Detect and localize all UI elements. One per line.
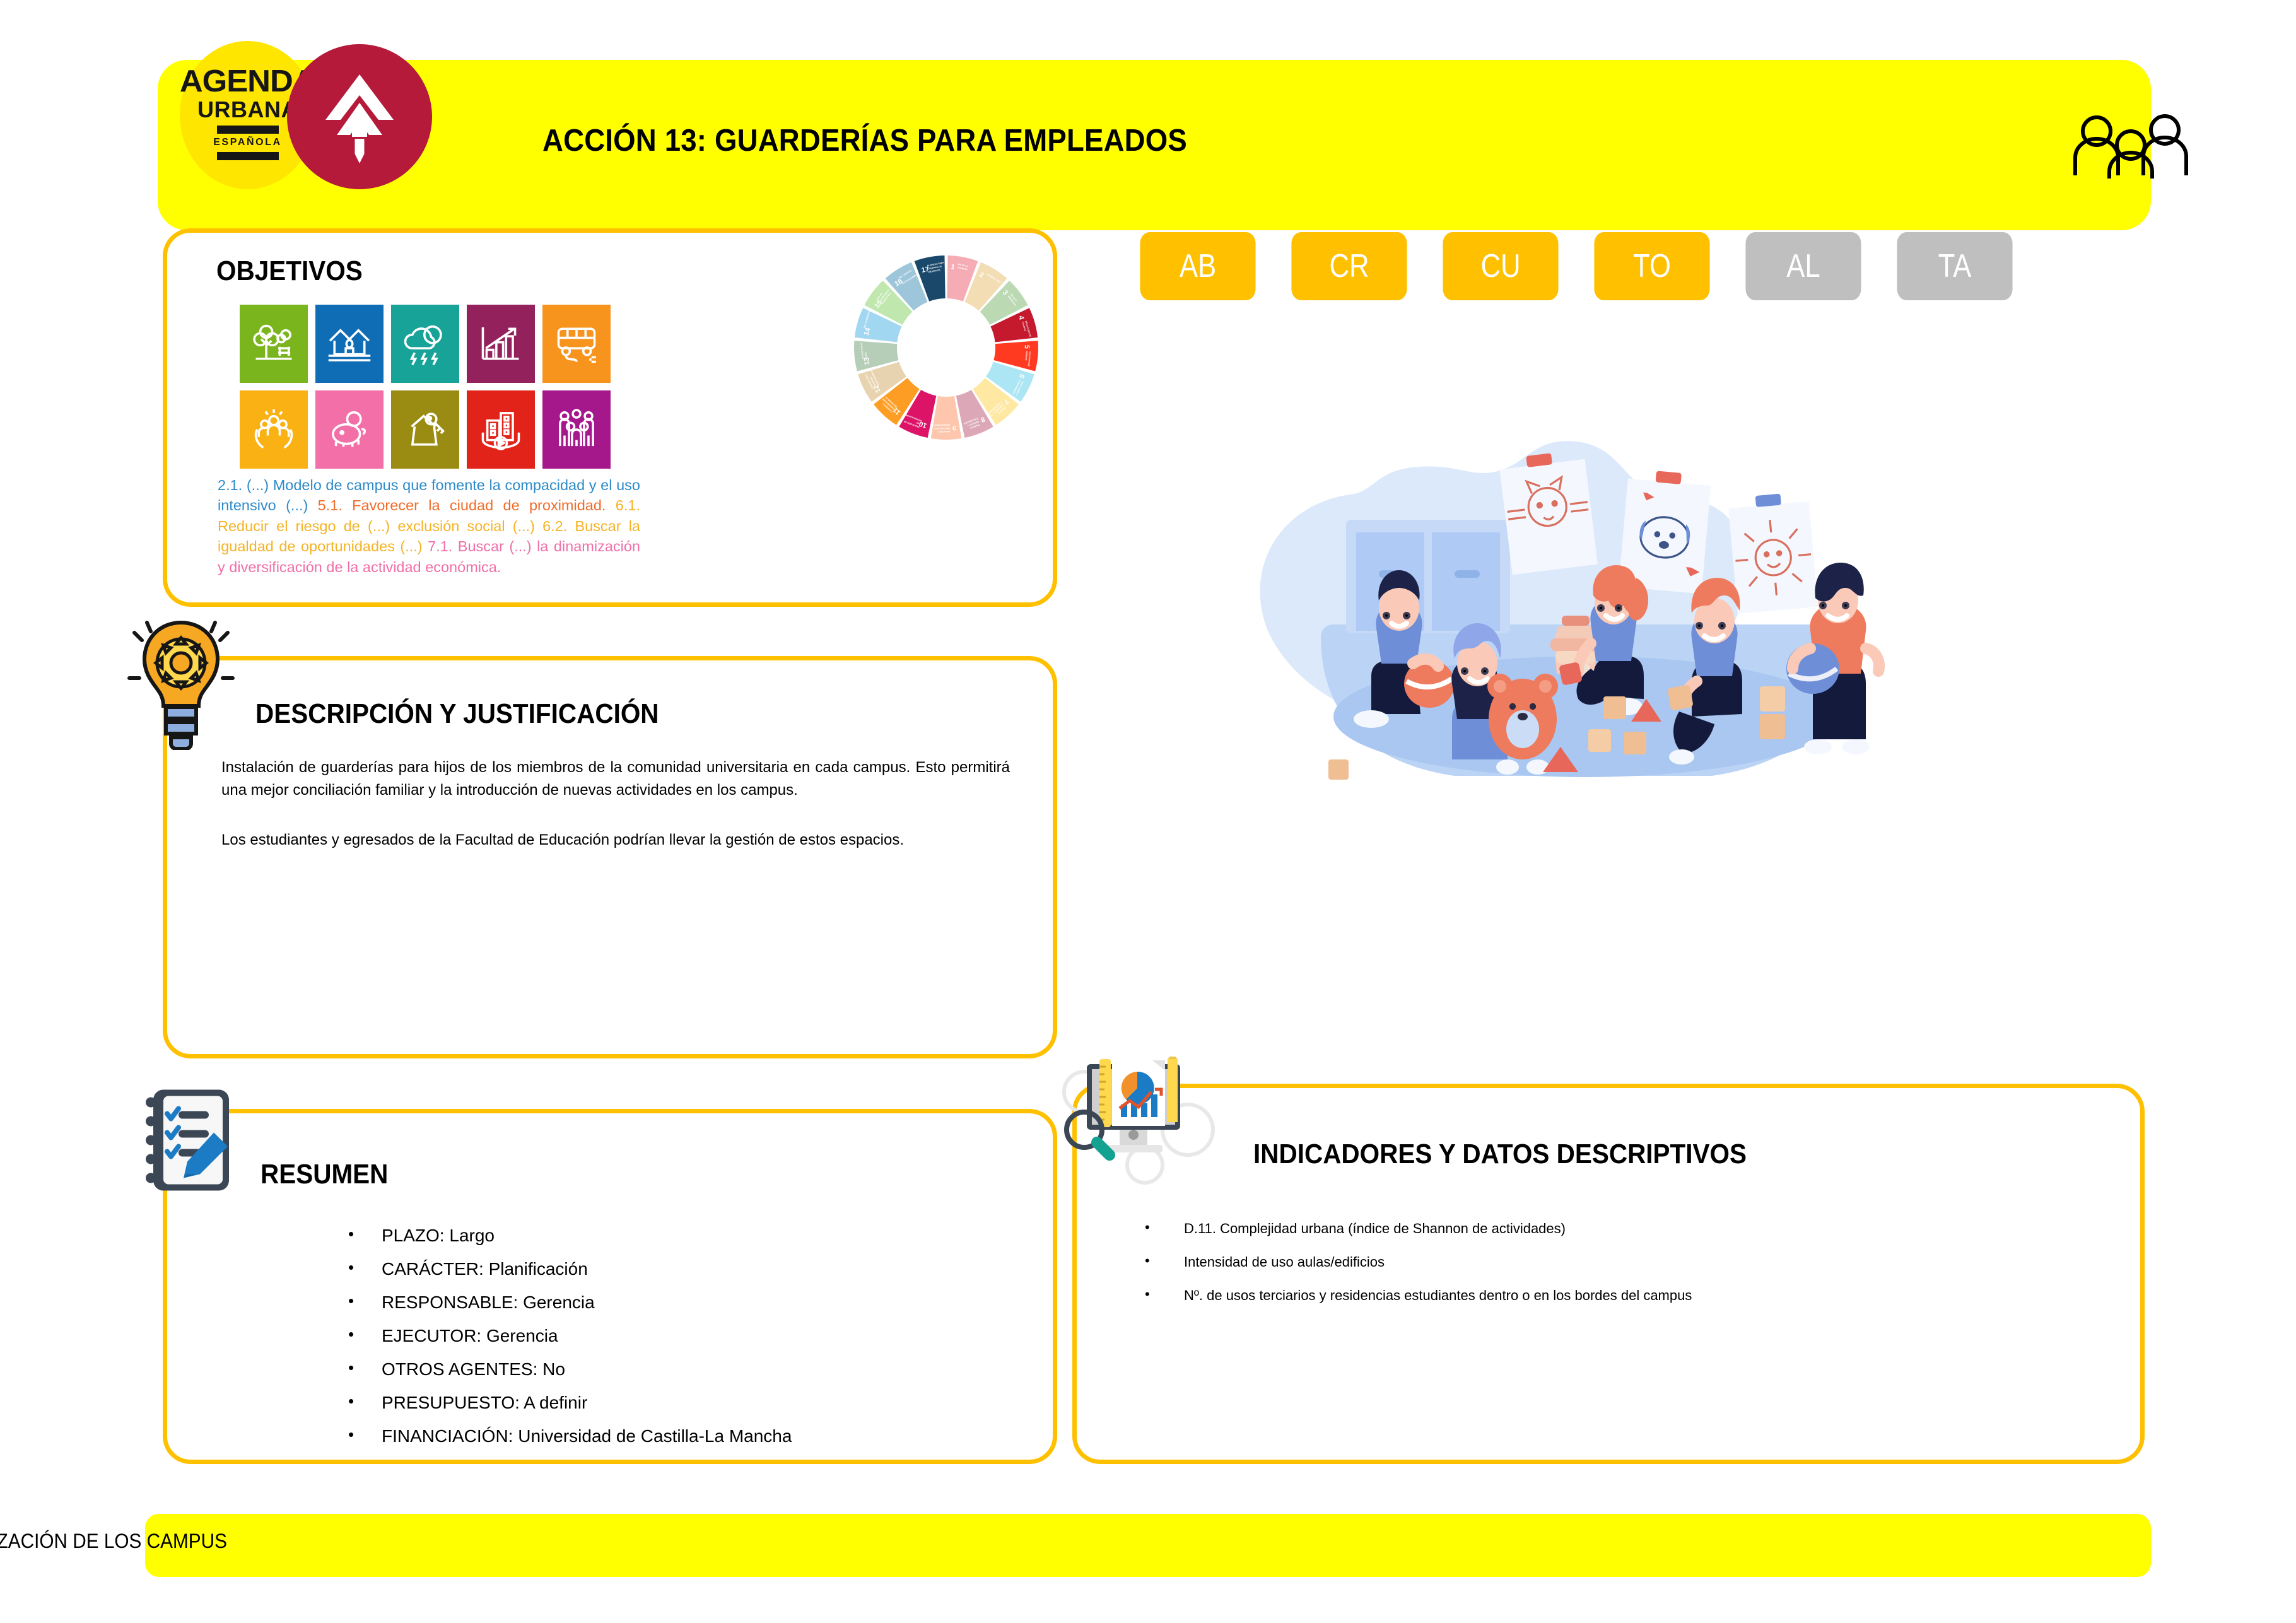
analytics-monitor-icon bbox=[1062, 1057, 1219, 1192]
svg-text:INDUSTRIA,: INDUSTRIA, bbox=[938, 430, 950, 433]
footer-eje-label: EJE 3: REVITALIZACIÓN DE LOS CAMPUS bbox=[0, 1530, 227, 1553]
hands-people-icon bbox=[240, 390, 308, 469]
people-group-icon bbox=[2069, 112, 2195, 182]
list-item: OTROS AGENTES: No bbox=[382, 1361, 792, 1378]
sdg-wheel: 1FIN DE LAPOBREZA2HAMBRE CERO3SALUD YBIE… bbox=[852, 253, 1041, 445]
objetivos-text: 2.1. (...) Modelo de campus que fomente … bbox=[218, 475, 640, 577]
objetivos-card: OBJETIVOS bbox=[163, 228, 1057, 607]
electric-bus-icon bbox=[542, 305, 611, 383]
list-item: RESPONSABLE: Gerencia bbox=[382, 1294, 792, 1311]
logo-line-urbana: URBANA bbox=[197, 98, 298, 122]
descripcion-card: DESCRIPCIÓN Y JUSTIFICACIÓN Instalación … bbox=[163, 656, 1057, 1058]
lightbulb-gear-icon bbox=[124, 618, 238, 753]
list-item: CARÁCTER: Planificación bbox=[382, 1260, 792, 1278]
page-title: ACCIÓN 13: GUARDERÍAS PARA EMPLEADOS bbox=[542, 123, 1187, 158]
list-item: Intensidad de uso aulas/edificios bbox=[1184, 1255, 1692, 1269]
descripcion-paragraph-1: Instalación de guarderías para hijos de … bbox=[221, 756, 1010, 802]
indicadores-card: INDICADORES Y DATOS DESCRIPTIVOS D.11. C… bbox=[1072, 1084, 2145, 1464]
descripcion-body: Instalación de guarderías para hijos de … bbox=[221, 756, 1010, 852]
descripcion-paragraph-2: Los estudiantes y egresados de la Facult… bbox=[221, 829, 1010, 852]
logo-line-espanola: ESPAÑOLA bbox=[213, 137, 282, 148]
group-people-icon bbox=[542, 390, 611, 469]
campus-badge-to[interactable]: TO bbox=[1594, 232, 1709, 300]
checklist-notebook-icon bbox=[136, 1082, 243, 1202]
campus-badge-ta[interactable]: TA bbox=[1897, 232, 2012, 300]
svg-text:INNOVACIÓN E: INNOVACIÓN E bbox=[934, 427, 950, 430]
logo-rule-top bbox=[217, 126, 279, 134]
logo-rule-bottom bbox=[217, 152, 279, 160]
footer-bar bbox=[145, 1514, 2151, 1577]
park-tree-icon bbox=[240, 305, 308, 383]
poster-page: AGENDA URBANA ESPAÑOLA ACCIÓN 13: GUARDE… bbox=[0, 0, 2296, 1623]
list-item: PLAZO: Largo bbox=[382, 1227, 792, 1245]
indicadores-list: D.11. Complejidad urbana (índice de Shan… bbox=[1184, 1222, 1692, 1322]
buildings-play-icon bbox=[467, 390, 535, 469]
campus-badge-row: AB CR CU TO AL TA bbox=[1129, 232, 2024, 300]
indicadores-title: INDICADORES Y DATOS DESCRIPTIVOS bbox=[1253, 1139, 1747, 1170]
growth-chart-icon bbox=[467, 305, 535, 383]
piggy-bank-icon bbox=[315, 390, 384, 469]
resumen-list: PLAZO: Largo CARÁCTER: Planificación RES… bbox=[382, 1227, 792, 1461]
sdg-segment-number-9: 9 bbox=[952, 424, 956, 431]
descripcion-title: DESCRIPCIÓN Y JUSTIFICACIÓN bbox=[255, 698, 659, 730]
campus-badge-ab[interactable]: AB bbox=[1140, 232, 1255, 300]
nursery-children-playing-illustration bbox=[1230, 416, 1936, 798]
houses-icon bbox=[315, 305, 384, 383]
campus-badge-cr[interactable]: CR bbox=[1291, 232, 1407, 300]
list-item: PRESUPUESTO: A definir bbox=[382, 1394, 792, 1412]
objetivo-segment-5-1: 5.1. Favorecer la ciudad de proximidad. bbox=[318, 497, 616, 513]
rocket-signal-logo-icon bbox=[287, 44, 432, 189]
list-item: FINANCIACIÓN: Universidad de Castilla-La… bbox=[382, 1427, 792, 1445]
resumen-card: RESUMEN PLAZO: Largo CARÁCTER: Planifica… bbox=[163, 1109, 1057, 1464]
resumen-title: RESUMEN bbox=[261, 1159, 388, 1190]
objetivos-icon-grid bbox=[240, 305, 611, 469]
objetivos-title: OBJETIVOS bbox=[216, 255, 363, 287]
sdg-segment-number-5: 5 bbox=[1022, 344, 1031, 349]
list-item: EJECUTOR: Gerencia bbox=[382, 1327, 792, 1345]
house-keys-icon bbox=[391, 390, 459, 469]
campus-badge-al[interactable]: AL bbox=[1745, 232, 1861, 300]
campus-badge-cu[interactable]: CU bbox=[1443, 232, 1558, 300]
list-item: Nº. de usos terciarios y residencias est… bbox=[1184, 1289, 1692, 1303]
list-item: D.11. Complejidad urbana (índice de Shan… bbox=[1184, 1222, 1692, 1236]
storm-cloud-icon bbox=[391, 305, 459, 383]
svg-text:INFRAESTRUCTURA: INFRAESTRUCTURA bbox=[928, 424, 950, 426]
